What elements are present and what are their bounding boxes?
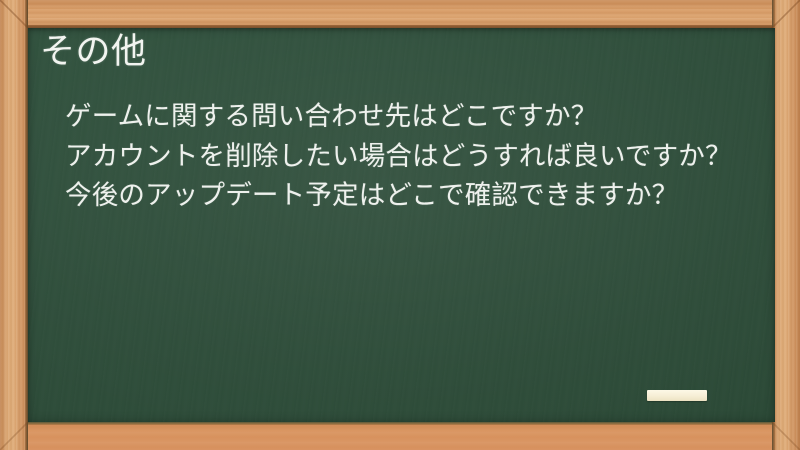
question-list: ゲームに関する問い合わせ先はどこですか？ アカウントを削除したい場合はどうすれば… — [58, 98, 758, 217]
list-item: アカウントを削除したい場合はどうすれば良いですか？ — [58, 138, 758, 176]
chalk-stick-icon — [647, 390, 707, 401]
frame-stile-left — [0, 0, 28, 450]
list-item: 今後のアップデート予定はどこで確認できますか？ — [58, 177, 758, 215]
chalkboard-slide: その他 ゲームに関する問い合わせ先はどこですか？ アカウントを削除したい場合はど… — [0, 0, 800, 450]
frame-stile-right — [772, 0, 800, 450]
frame-rail-bottom — [0, 422, 800, 450]
frame-rail-top — [0, 0, 800, 28]
chalkboard-surface: その他 ゲームに関する問い合わせ先はどこですか？ アカウントを削除したい場合はど… — [28, 28, 775, 422]
list-item: ゲームに関する問い合わせ先はどこですか？ — [58, 98, 758, 136]
page-title: その他 — [40, 30, 147, 74]
slide-content: その他 ゲームに関する問い合わせ先はどこですか？ アカウントを削除したい場合はど… — [28, 28, 775, 422]
